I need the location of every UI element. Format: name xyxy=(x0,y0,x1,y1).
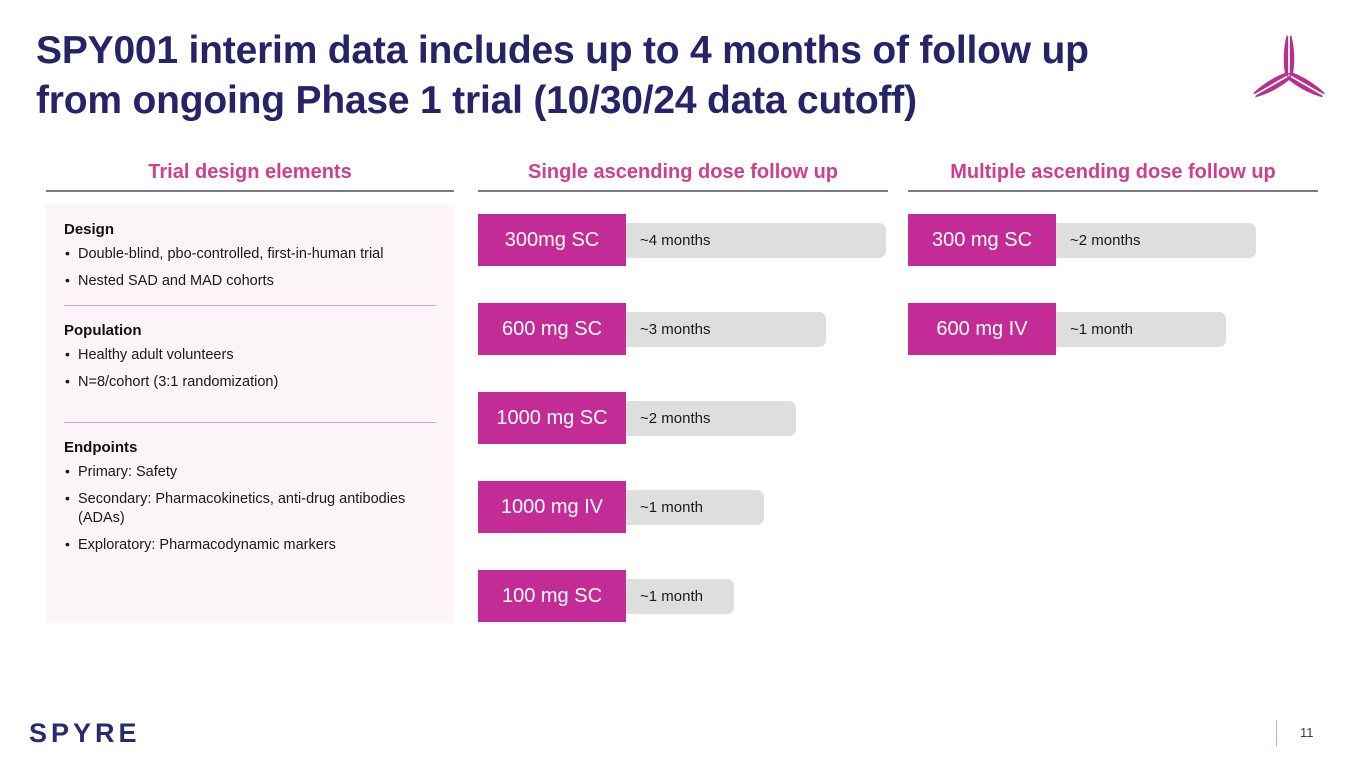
sad-duration-label-4: ~1 month xyxy=(640,499,703,516)
spyre-trefoil-logo-icon xyxy=(1246,28,1332,114)
mad-duration-label-1: ~2 months xyxy=(1070,232,1140,249)
column-header-multiple-ascending-dose: Multiple ascending dose follow up xyxy=(908,161,1318,184)
trial-section-design: Design Double-blind, pbo-controlled, fir… xyxy=(64,221,436,291)
sad-dose-chip-5: 100 mg SC xyxy=(478,570,626,622)
column-rule-multiple-ascending-dose xyxy=(908,190,1318,192)
sad-duration-label-5: ~1 month xyxy=(640,588,703,605)
section-title-population: Population xyxy=(64,322,436,339)
trial-design-panel: Design Double-blind, pbo-controlled, fir… xyxy=(46,205,454,623)
sad-dose-chip-1: 300mg SC xyxy=(478,214,626,266)
column-header-trial-design: Trial design elements xyxy=(46,161,454,184)
sad-dose-chip-2: 600 mg SC xyxy=(478,303,626,355)
mad-dose-chip-2: 600 mg IV xyxy=(908,303,1056,355)
bullet-list-design: Double-blind, pbo-controlled, first-in-h… xyxy=(64,245,436,291)
sad-dose-chip-4: 1000 mg IV xyxy=(478,481,626,533)
sad-duration-label-3: ~2 months xyxy=(640,410,710,427)
column-rule-single-ascending-dose xyxy=(478,190,888,192)
page-title-line-2: from ongoing Phase 1 trial (10/30/24 dat… xyxy=(36,79,917,122)
list-item: Secondary: Pharmacokinetics, anti-drug a… xyxy=(64,490,436,529)
list-item: Nested SAD and MAD cohorts xyxy=(64,272,436,292)
bullet-list-population: Healthy adult volunteers N=8/cohort (3:1… xyxy=(64,346,436,392)
list-item: Primary: Safety xyxy=(64,463,436,483)
trial-section-endpoints: Endpoints Primary: Safety Secondary: Pha… xyxy=(64,439,436,555)
spyre-wordmark: SPYRE xyxy=(29,718,141,749)
page-title: SPY001 interim data includes up to 4 mon… xyxy=(36,26,1216,126)
sad-duration-label-2: ~3 months xyxy=(640,321,710,338)
section-title-design: Design xyxy=(64,221,436,238)
bullet-list-endpoints: Primary: Safety Secondary: Pharmacokinet… xyxy=(64,463,436,555)
mad-duration-label-2: ~1 month xyxy=(1070,321,1133,338)
column-rule-trial-design xyxy=(46,190,454,192)
sad-duration-bar-4: ~1 month xyxy=(606,490,764,525)
sad-duration-bar-2: ~3 months xyxy=(606,312,826,347)
column-header-single-ascending-dose: Single ascending dose follow up xyxy=(478,161,888,184)
list-item: Exploratory: Pharmacodynamic markers xyxy=(64,536,436,556)
section-divider-2 xyxy=(64,422,436,423)
sad-duration-label-1: ~4 months xyxy=(640,232,710,249)
mad-dose-chip-1: 300 mg SC xyxy=(908,214,1056,266)
footer-divider xyxy=(1276,720,1277,746)
sad-duration-bar-1: ~4 months xyxy=(606,223,886,258)
mad-duration-bar-2: ~1 month xyxy=(1036,312,1226,347)
list-item: N=8/cohort (3:1 randomization) xyxy=(64,373,436,393)
sad-duration-bar-3: ~2 months xyxy=(606,401,796,436)
sad-dose-chip-3: 1000 mg SC xyxy=(478,392,626,444)
page-number: 11 xyxy=(1300,725,1314,740)
page-title-line-1: SPY001 interim data includes up to 4 mon… xyxy=(36,29,1089,72)
section-divider-1 xyxy=(64,305,436,306)
section-title-endpoints: Endpoints xyxy=(64,439,436,456)
trial-section-population: Population Healthy adult volunteers N=8/… xyxy=(64,322,436,392)
list-item: Healthy adult volunteers xyxy=(64,346,436,366)
list-item: Double-blind, pbo-controlled, first-in-h… xyxy=(64,245,436,265)
mad-duration-bar-1: ~2 months xyxy=(1036,223,1256,258)
